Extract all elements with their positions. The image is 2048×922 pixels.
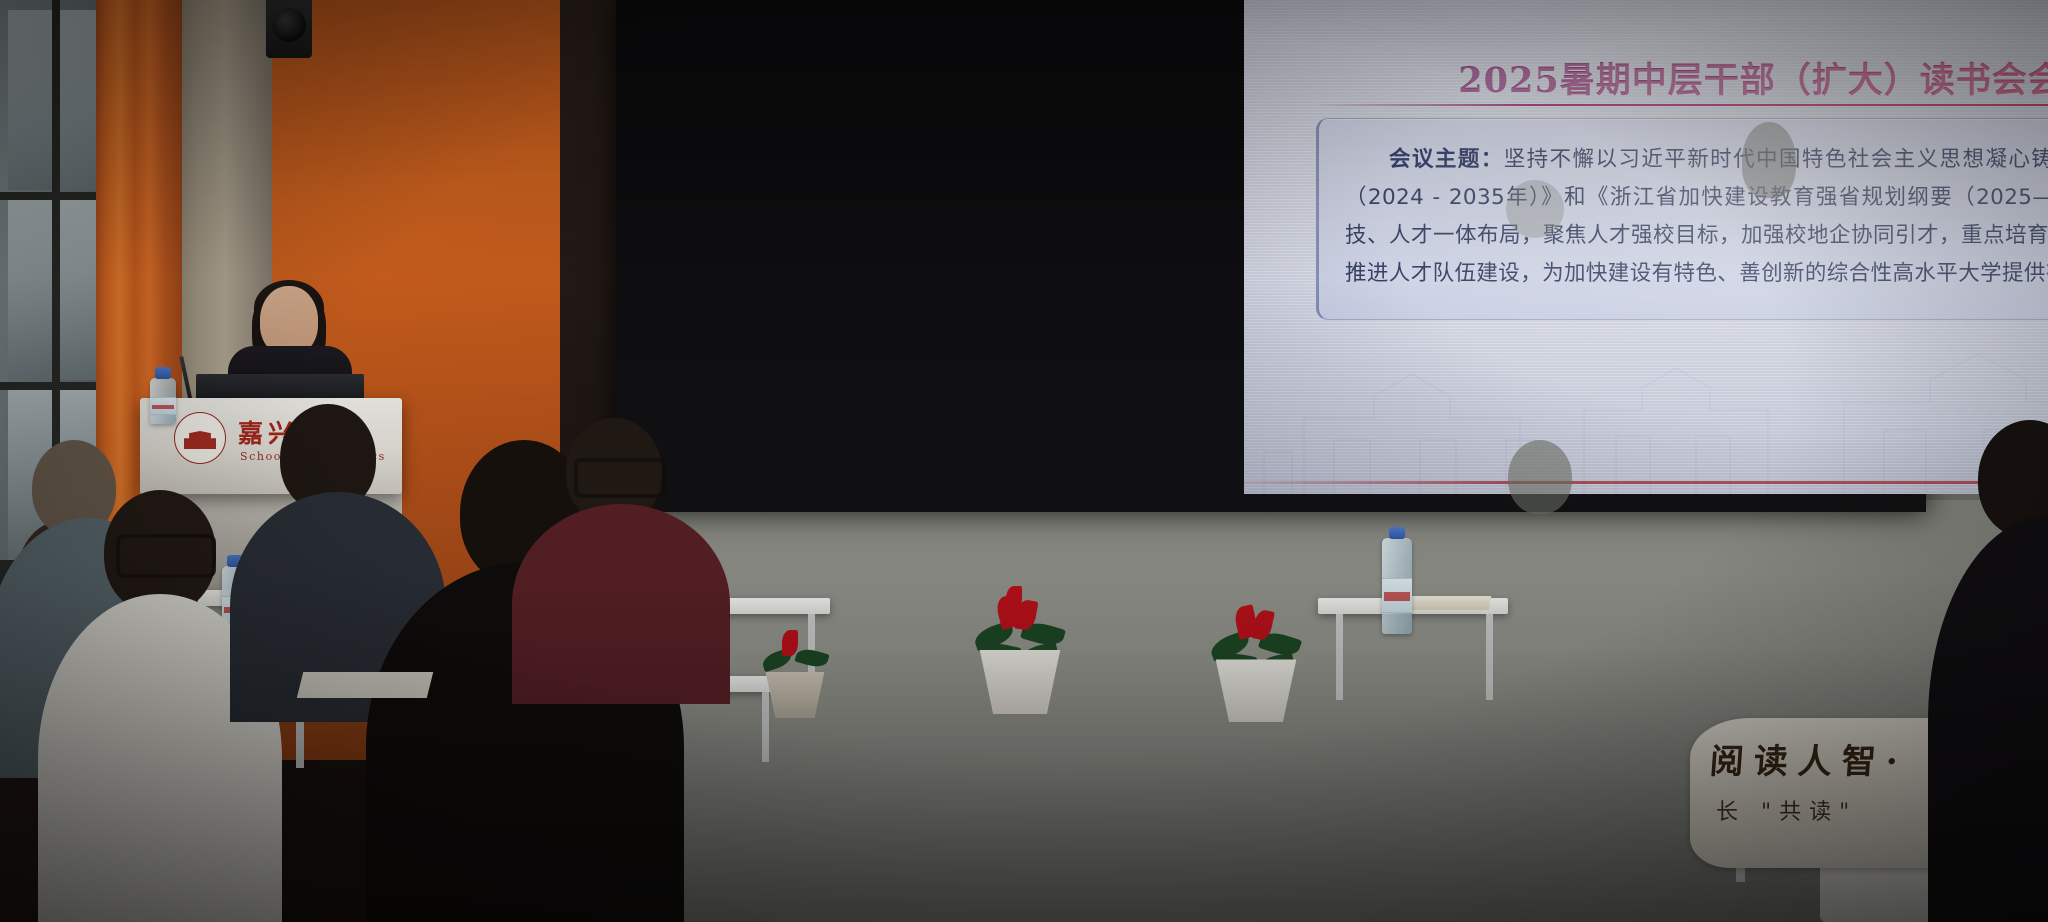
water-bottle [1382, 538, 1412, 634]
eyeglasses-icon [116, 534, 216, 578]
plant-pot [1208, 659, 1304, 722]
wall-figure [1506, 180, 1564, 238]
handout-paper [297, 672, 433, 698]
audience-person [1480, 440, 1610, 560]
eyeglasses-icon [574, 458, 666, 498]
projection-screen-frame: 2025暑期中层干部（扩大）读书会会议精神传达学习 会议主题：坚持不懈以习近平新… [616, 0, 1926, 512]
university-seal-icon [174, 412, 226, 464]
presentation-slide: 2025暑期中层干部（扩大）读书会会议精神传达学习 会议主题：坚持不懈以习近平新… [1244, 0, 2048, 494]
title-divider [1320, 104, 2048, 106]
audience-person [1958, 420, 2048, 922]
projection-screen: 2025暑期中层干部（扩大）读书会会议精神传达学习 会议主题：坚持不懈以习近平新… [1244, 0, 2048, 494]
slide-body-card: 会议主题：坚持不懈以习近平新时代中国特色社会主义思想凝心铸魂，深入学习贯彻《教育… [1316, 118, 2048, 320]
plant-pot [972, 650, 1068, 714]
potted-plant [760, 618, 830, 718]
conference-room-photo: 2025暑期中层干部（扩大）读书会会议精神传达学习 会议主题：坚持不懈以习近平新… [0, 0, 2048, 922]
slide-body-text: 会议主题：坚持不懈以习近平新时代中国特色社会主义思想凝心铸魂，深入学习贯彻《教育… [1345, 141, 2048, 293]
water-bottle [150, 378, 176, 424]
wall-calligraphy-line1: 阅读人智· [1708, 734, 1909, 783]
plant-pot [760, 672, 830, 718]
meeting-topic-label: 会议主题： [1389, 147, 1504, 172]
slide-footer-rule [1244, 481, 2048, 484]
wall-figure [1742, 122, 1796, 198]
audience-person [530, 418, 710, 678]
slide-title: 2025暑期中层干部（扩大）读书会会议精神传达学习 [1244, 52, 2048, 103]
ceiling-speaker-icon [266, 0, 312, 58]
potted-plant [972, 574, 1068, 714]
potted-plant [1208, 586, 1304, 722]
wall-calligraphy-line2: 长 "共读" [1716, 794, 1857, 826]
slide-watermark [1244, 344, 2048, 494]
